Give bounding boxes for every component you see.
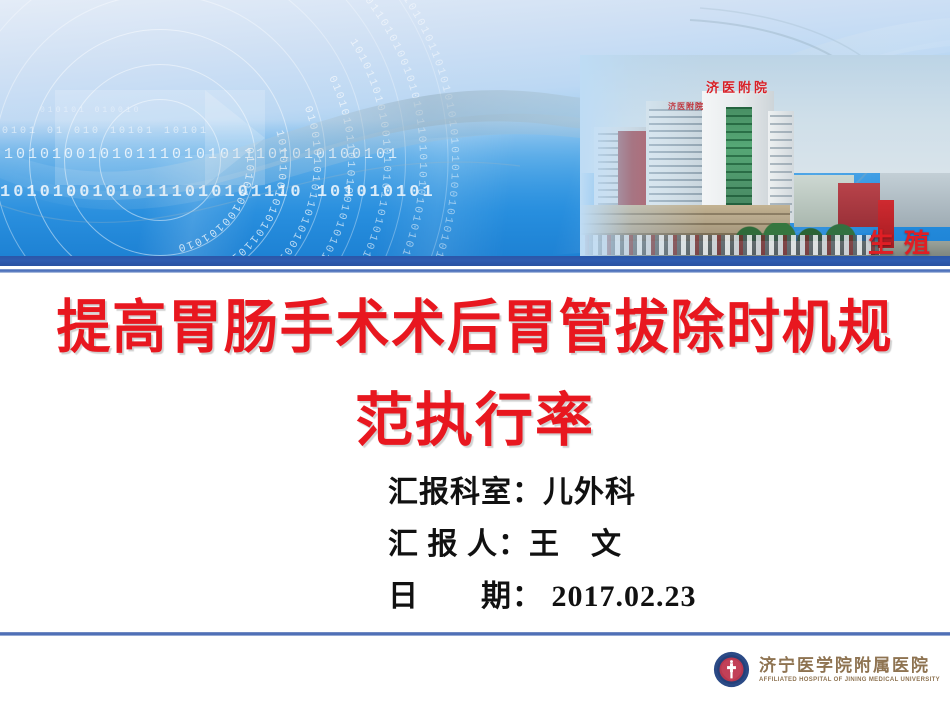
title-line-2: 范执行率 (0, 391, 950, 452)
subtitle-date: 日 期： 2017.02.23 (388, 582, 908, 612)
slide-title: 提高胃肠手术术后胃管拔除时机规 范执行率 (0, 298, 950, 452)
presentation-slide: 0101010100101010101010010101011010100010… (0, 0, 950, 713)
decorative-header-banner: 0101010100101010101010010101011010100010… (0, 0, 950, 256)
banner-bottom-rule-thin (0, 269, 950, 273)
hospital-name-english: AFFILIATED HOSPITAL OF JINING MEDICAL UN… (759, 677, 940, 683)
hospital-logo: 济宁医学院附属医院 AFFILIATED HOSPITAL OF JINING … (713, 651, 940, 688)
banner-bottom-rule-thick (0, 256, 950, 266)
title-line-1: 提高胃肠手术术后胃管拔除时机规 (33, 298, 917, 359)
subtitle-department: 汇报科室：儿外科 (388, 478, 908, 508)
slide-subtitle-block: 汇报科室：儿外科 汇 报 人：王 文 日 期： 2017.02.23 (388, 478, 908, 634)
hospital-logo-text: 济宁医学院附属医院 AFFILIATED HOSPITAL OF JINING … (759, 657, 940, 683)
hospital-emblem-icon (713, 651, 750, 688)
subtitle-presenter: 汇 报 人：王 文 (388, 530, 908, 560)
footer-divider-rule (0, 632, 950, 636)
hospital-name-chinese: 济宁医学院附属医院 (759, 657, 940, 674)
hospital-building-photo: 济医附院 济医附院 生殖 (580, 55, 950, 256)
photo-left-fade-mask (580, 55, 950, 256)
